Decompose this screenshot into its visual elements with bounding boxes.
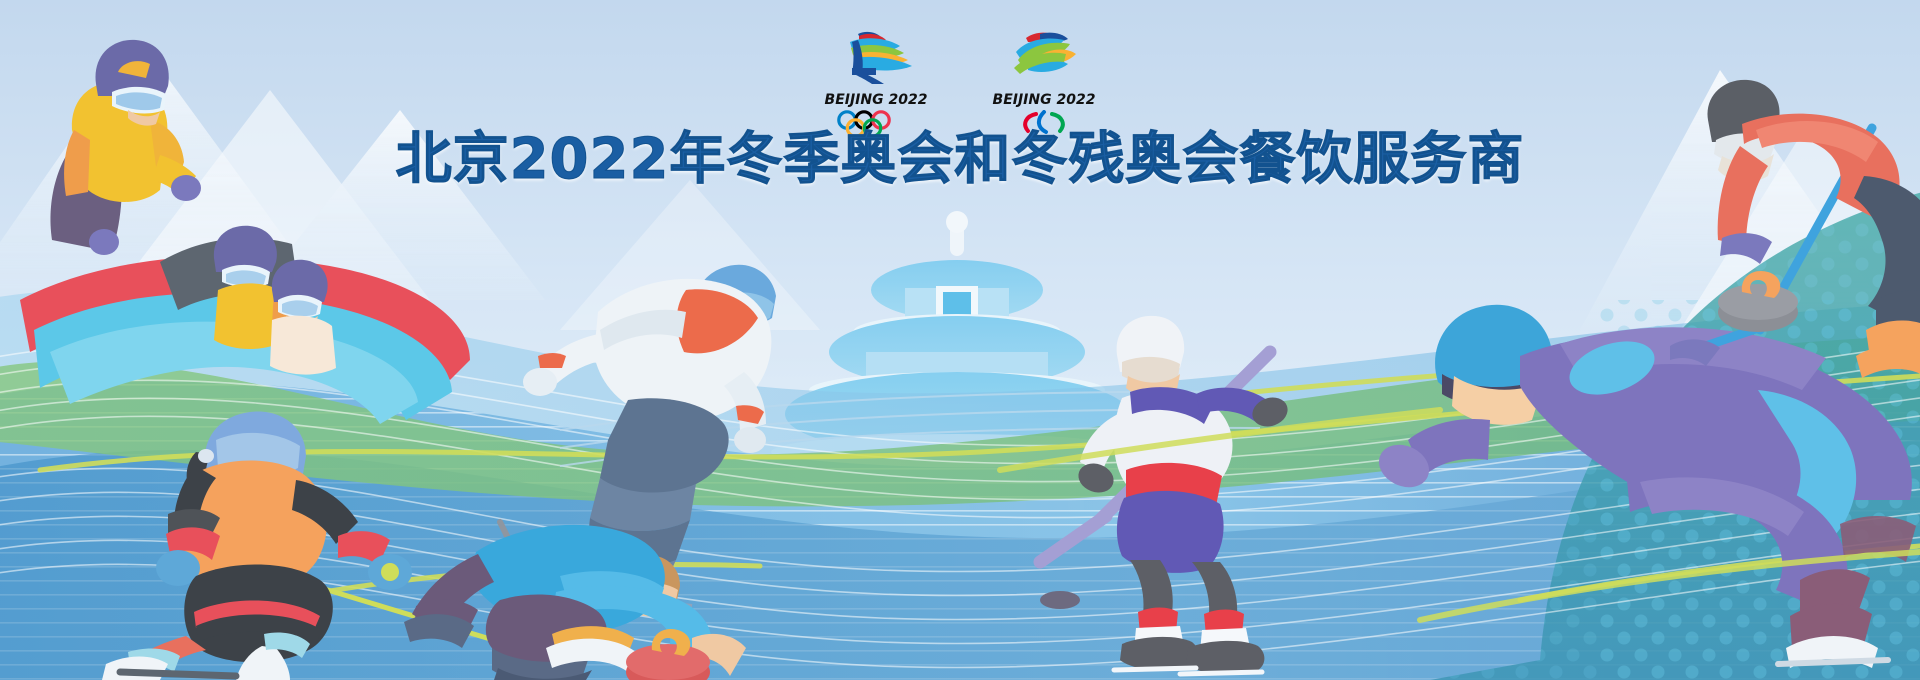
beijing-2022-olympic-emblem: BEIJING 2022: [816, 28, 936, 136]
beijing-2022-paralympic-emblem: BEIJING 2022: [984, 28, 1104, 136]
beijing-2022-catering-banner: BEIJING 2022: [0, 0, 1920, 680]
paralympic-wordmark-icon: BEIJING 2022: [992, 90, 1096, 107]
emblem-row: BEIJING 2022: [0, 28, 1920, 136]
page-title: 北京2022年冬季奥会和冬残奥会餐饮服务商: [0, 128, 1920, 192]
hockey-puck: [1040, 591, 1080, 609]
paralympic-winter-ribbon-icon: [996, 28, 1092, 86]
olympic-wordmark-icon: BEIJING 2022: [824, 90, 928, 107]
paralympic-wordmark-text: BEIJING 2022: [993, 92, 1096, 107]
olympic-wordmark-text: BEIJING 2022: [825, 92, 928, 107]
olympic-winter-ribbon-icon: [828, 28, 924, 86]
